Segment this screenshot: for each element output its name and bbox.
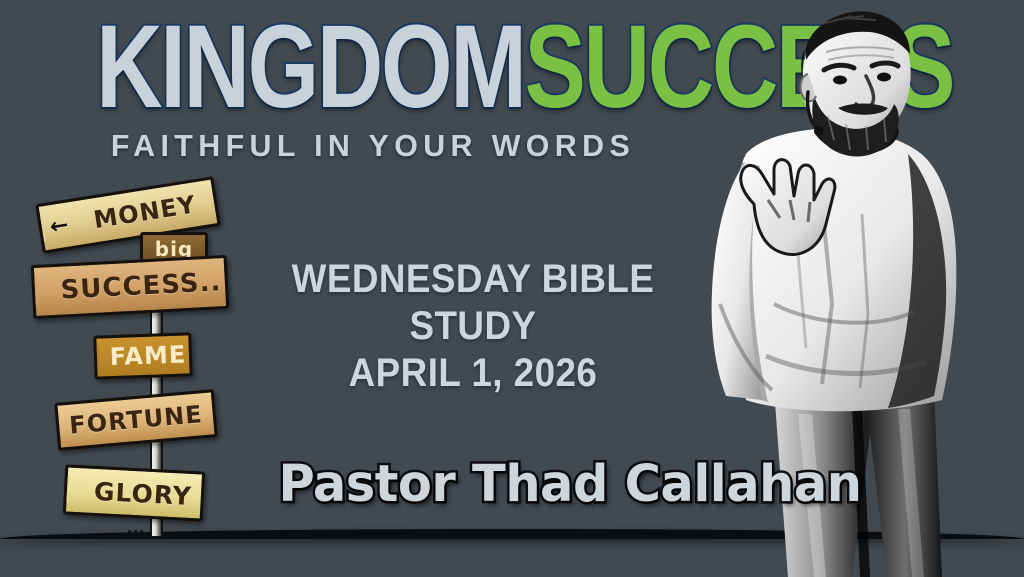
sign-arrow-head [93,344,99,373]
sign-label: FAME [109,340,186,371]
logo-word-kingdom: KINGDOM [96,1,524,133]
sign-label: FORTUNE [68,400,203,440]
logo-tagline: FAITHFUL IN YOUR WORDS [25,130,721,161]
signpost-graphic: ← MONEY big SUCCESS.. FAME FORTUNE GLORY… [32,168,252,568]
sign-label: SUCCESS.. [60,267,222,305]
sign-label: GLORY [93,476,192,510]
sign-glory: GLORY [63,464,205,521]
show-logo: KINGDOMSUCCESS FAITHFUL IN YOUR WORDS [18,8,728,161]
sign-success: SUCCESS.. [31,255,230,319]
sign-arrow-head [35,214,46,244]
slide-canvas: KINGDOMSUCCESS FAITHFUL IN YOUR WORDS ← … [0,0,1024,577]
sign-fame: FAME [93,332,192,379]
sign-arrow-head [31,278,38,307]
logo-wordmark: KINGDOMSUCCESS [96,8,650,126]
sign-arrow-head [63,475,70,504]
grass-tuft-icon: ᐧᐧᐧ [126,520,196,546]
speaker-name: Pastor Thad Callahan [260,455,881,514]
event-title: WEDNESDAY BIBLE STUDY APRIL 1, 2026 [229,256,717,398]
arrow-left-icon: ← [48,215,70,240]
event-title-line1: WEDNESDAY BIBLE STUDY [229,256,717,350]
event-date: APRIL 1, 2026 [229,350,717,397]
sign-fortune: FORTUNE [54,389,218,451]
sign-label: MONEY [92,190,198,234]
